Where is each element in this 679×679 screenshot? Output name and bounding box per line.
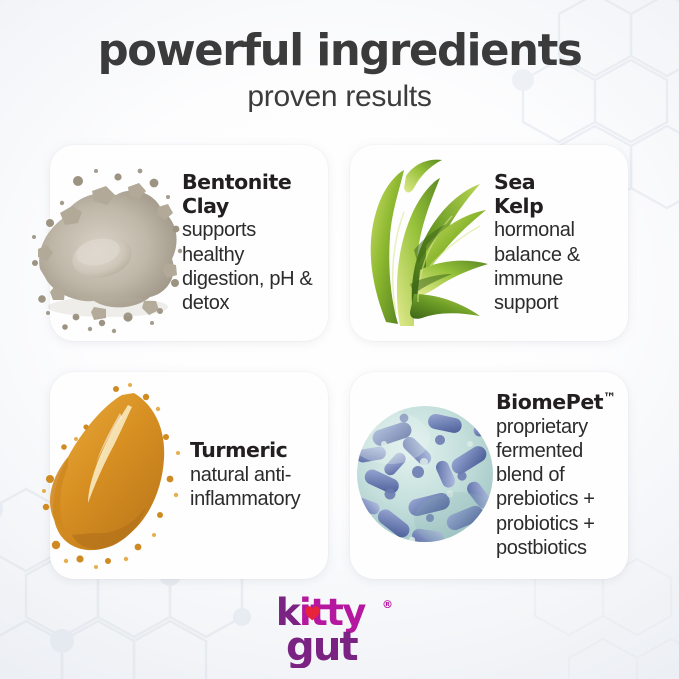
- ingredient-description: natural anti-inflammatory: [190, 463, 322, 511]
- ingredient-card-turmeric[interactable]: Turmeric natural anti-inflammatory: [50, 372, 328, 579]
- ingredient-name-line2: Kelp: [494, 194, 543, 218]
- ingredient-description: hormonal balance & immune support: [494, 218, 622, 315]
- ingredient-name-line2: Clay: [182, 194, 229, 218]
- bentonite-clay-image: [32, 151, 182, 336]
- page-title: powerful ingredients: [5, 27, 674, 74]
- bentonite-clay-copy: BentoniteClay supports healthy digestion…: [182, 171, 328, 315]
- ingredient-name-line1: Sea: [494, 170, 535, 194]
- page-subtitle: proven results: [0, 80, 679, 113]
- biomepet-image: [354, 400, 496, 552]
- ingredient-name-line1: BiomePet: [496, 390, 603, 414]
- logo-word-gut: gut: [286, 624, 359, 668]
- ingredient-card-biomepet[interactable]: BiomePet™ proprietary fermented blend of…: [350, 372, 628, 579]
- ingredient-name: Turmeric: [190, 439, 322, 463]
- registered-trademark-symbol: ®: [382, 598, 393, 611]
- sea-kelp-copy: SeaKelp hormonal balance & immune suppor…: [494, 171, 628, 315]
- biomepet-copy: BiomePet™ proprietary fermented blend of…: [496, 391, 628, 560]
- ingredient-description: proprietary fermented blend of prebiotic…: [496, 415, 622, 560]
- ingredient-card-grid: BentoniteClay supports healthy digestion…: [50, 145, 628, 579]
- brand-logo[interactable]: kitty k gut ®: [0, 592, 679, 668]
- sea-kelp-image: [356, 154, 494, 332]
- trademark-symbol: ™: [603, 391, 616, 406]
- ingredient-name-line1: Bentonite: [182, 170, 291, 194]
- ingredient-name: BentoniteClay: [182, 171, 322, 219]
- header: powerful ingredients proven results: [0, 0, 679, 113]
- ingredient-description: supports healthy digestion, pH & detox: [182, 218, 322, 315]
- ingredients-infographic: powerful ingredients proven results: [0, 0, 679, 679]
- turmeric-image: [42, 383, 190, 569]
- ingredient-name: SeaKelp: [494, 171, 622, 219]
- turmeric-copy: Turmeric natural anti-inflammatory: [190, 439, 328, 511]
- ingredient-card-bentonite-clay[interactable]: BentoniteClay supports healthy digestion…: [50, 145, 328, 341]
- ingredient-name: BiomePet™: [496, 391, 622, 415]
- ingredient-card-sea-kelp[interactable]: SeaKelp hormonal balance & immune suppor…: [350, 145, 628, 341]
